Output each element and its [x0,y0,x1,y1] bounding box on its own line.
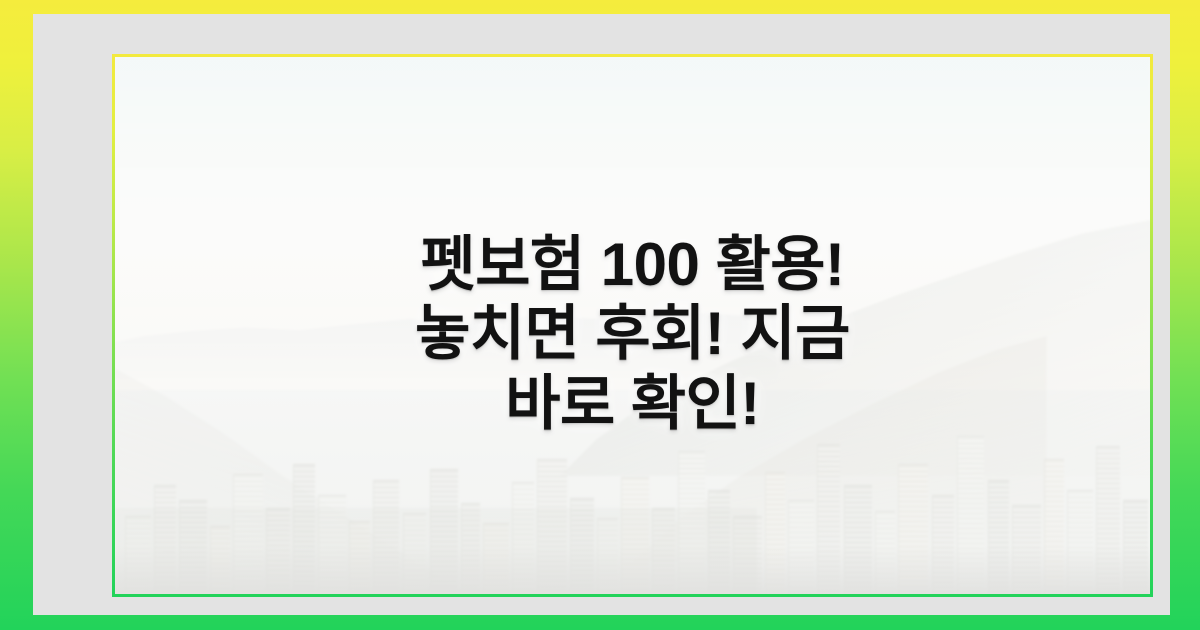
bottom-fade-overlay [115,546,1150,594]
headline-line-1: 펫보험 100 활용! [155,229,1110,299]
headline-block: 펫보험 100 활용! 놓치면 후회! 지금 바로 확인! [115,229,1150,438]
headline-line-2: 놓치면 후회! 지금 [155,299,1110,369]
inner-gradient-border: 펫보험 100 활용! 놓치면 후회! 지금 바로 확인! [112,54,1153,597]
thumbnail-card: 펫보험 100 활용! 놓치면 후회! 지금 바로 확인! [0,0,1200,630]
headline-line-3: 바로 확인! [155,369,1110,439]
background-photo: 펫보험 100 활용! 놓치면 후회! 지금 바로 확인! [115,57,1150,594]
frame-mat: 펫보험 100 활용! 놓치면 후회! 지금 바로 확인! [33,14,1170,615]
